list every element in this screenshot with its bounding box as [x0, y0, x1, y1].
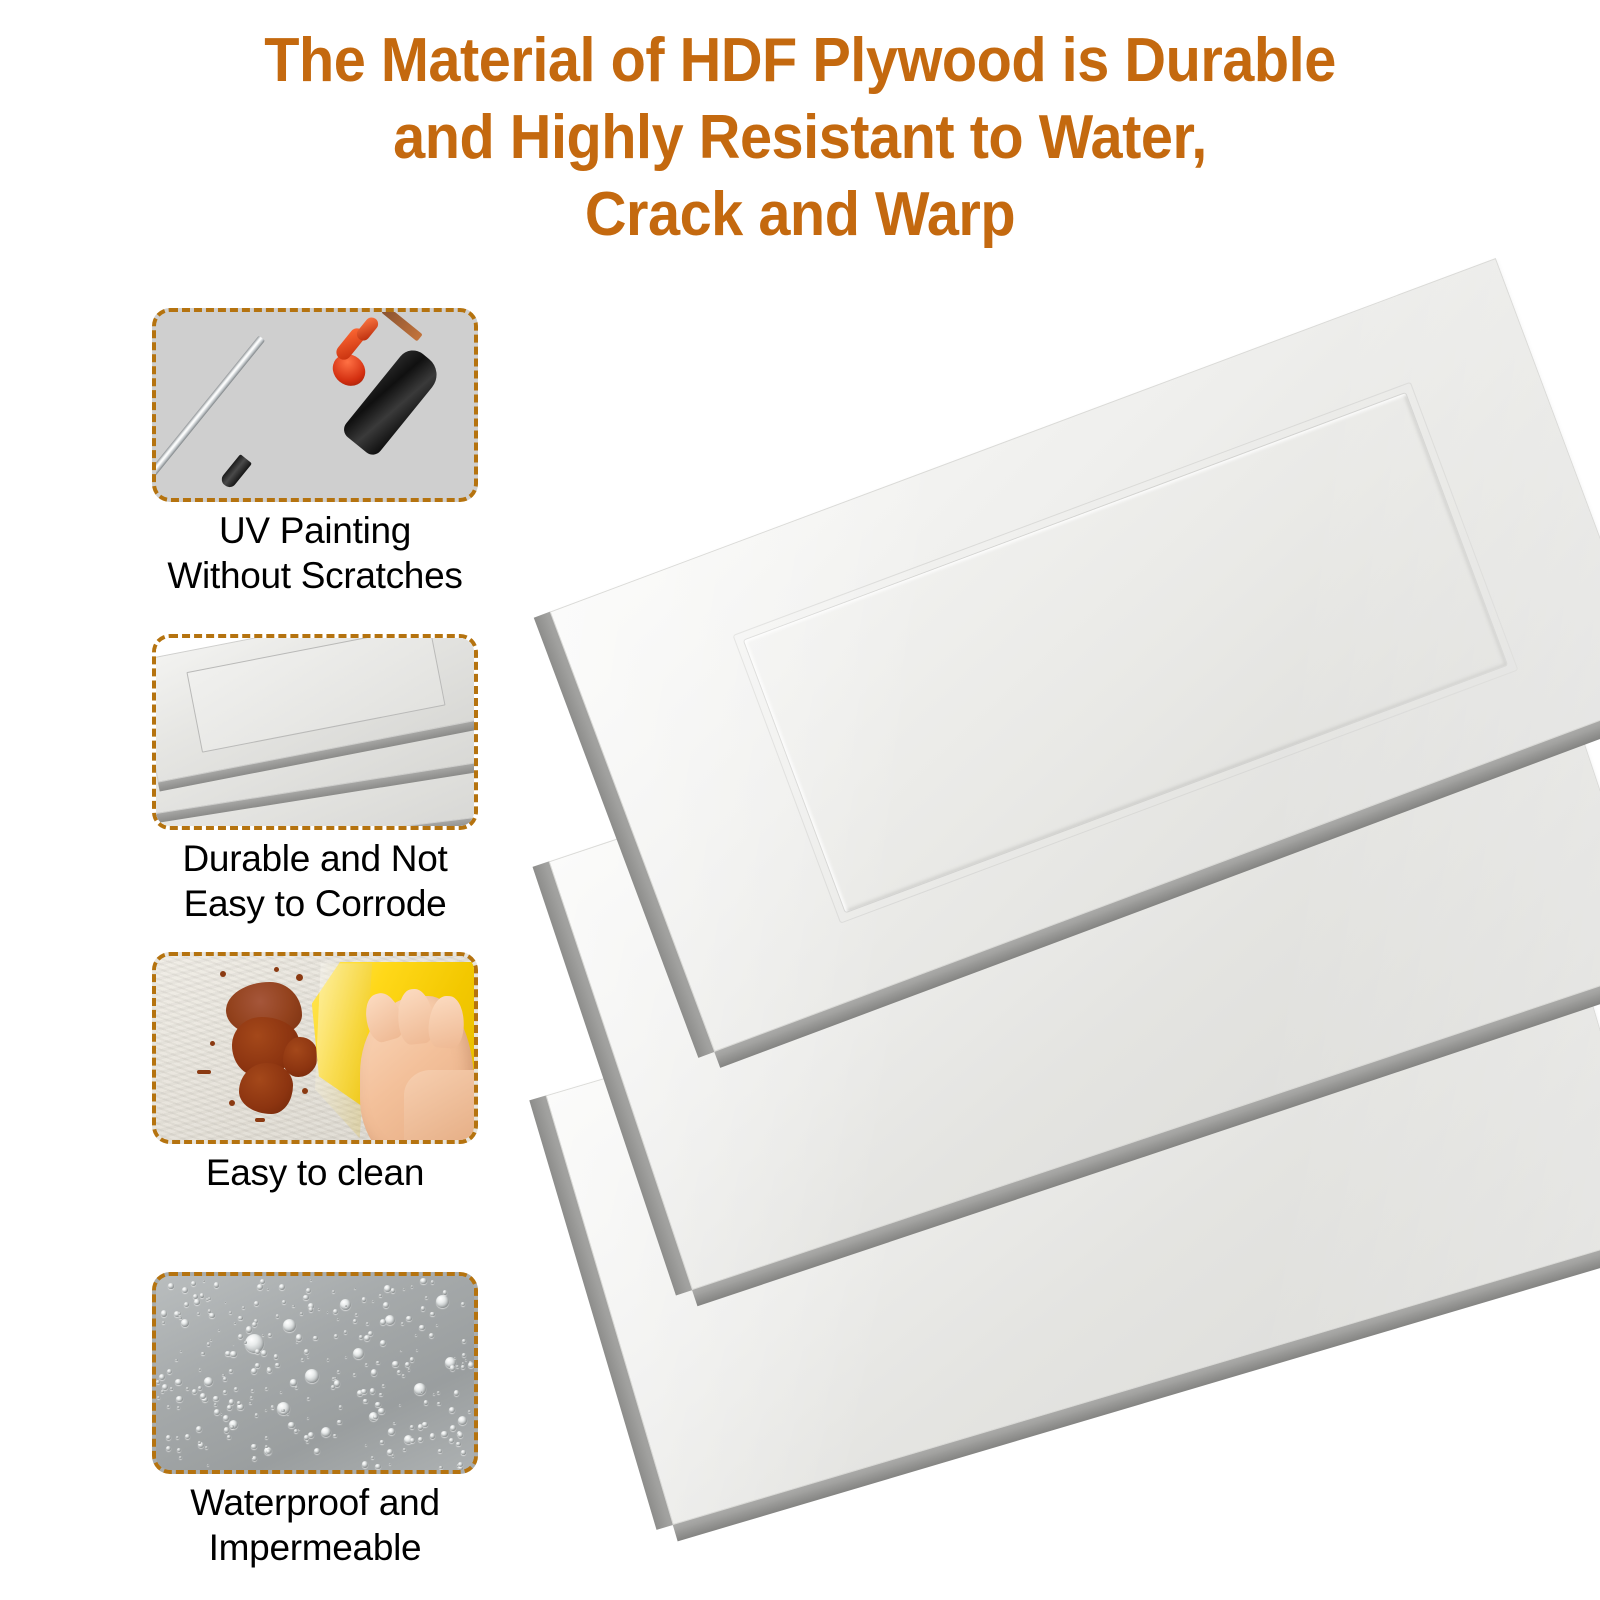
screwdriver-phillips-tip: [219, 454, 252, 490]
water-droplet: [379, 1393, 383, 1397]
water-droplet: [419, 1325, 425, 1331]
water-droplet: [177, 1448, 182, 1453]
water-droplet: [272, 1407, 275, 1410]
water-droplet: [421, 1306, 426, 1311]
water-droplet: [221, 1413, 223, 1415]
water-droplet: [207, 1342, 211, 1346]
water-droplet: [393, 1422, 395, 1424]
water-droplet: [308, 1432, 314, 1438]
water-droplet: [461, 1450, 465, 1454]
water-droplet: [418, 1437, 423, 1442]
water-droplet: [179, 1317, 181, 1319]
water-droplet: [433, 1393, 435, 1395]
water-droplet: [441, 1431, 448, 1438]
water-droplet: [185, 1434, 190, 1439]
feature-caption: UV Painting Without Scratches: [152, 508, 478, 598]
water-droplet: [429, 1333, 434, 1338]
water-droplet: [345, 1356, 347, 1358]
water-droplet: [353, 1348, 364, 1359]
water-droplet: [403, 1288, 405, 1290]
water-droplet: [327, 1311, 329, 1313]
water-droplet: [290, 1379, 296, 1385]
caption-line-1: Easy to clean: [152, 1150, 478, 1195]
water-droplet: [306, 1440, 309, 1443]
water-droplet: [371, 1369, 378, 1376]
water-droplet: [424, 1400, 428, 1404]
water-droplet: [309, 1307, 314, 1312]
water-droplet: [159, 1374, 165, 1380]
water-droplet: [223, 1415, 229, 1421]
water-droplet: [250, 1396, 253, 1399]
water-droplet: [370, 1388, 376, 1394]
water-droplet: [420, 1278, 426, 1284]
water-droplet: [234, 1387, 238, 1391]
water-droplet: [200, 1293, 204, 1297]
feature-caption: Durable and Not Easy to Corrode: [152, 836, 478, 926]
water-droplet: [209, 1313, 215, 1319]
water-droplet: [353, 1373, 356, 1376]
stain-blob: [239, 1063, 293, 1115]
water-droplet: [288, 1422, 295, 1429]
water-droplet: [383, 1302, 389, 1308]
water-droplet: [411, 1285, 413, 1287]
water-droplet: [180, 1350, 182, 1352]
water-droplet: [242, 1306, 245, 1309]
stain-blob: [283, 1037, 318, 1077]
feature-image-frame: [152, 952, 478, 1144]
water-droplet: [450, 1365, 456, 1371]
water-droplet: [178, 1312, 181, 1315]
water-droplet: [191, 1281, 196, 1286]
water-droplet: [458, 1416, 467, 1425]
water-droplet: [156, 1380, 160, 1384]
stain-fleck: [255, 1118, 265, 1122]
water-droplet: [461, 1365, 465, 1369]
water-droplet: [307, 1356, 309, 1358]
water-droplet: [280, 1391, 282, 1393]
stain-fleck: [274, 967, 279, 972]
caption-line-2: Without Scratches: [152, 553, 478, 598]
water-droplet: [314, 1448, 320, 1454]
water-droplet: [410, 1425, 414, 1429]
water-droplet: [282, 1300, 286, 1304]
water-droplet: [461, 1302, 465, 1306]
water-droplet: [166, 1435, 171, 1440]
screwdriver-grip-lower: [354, 315, 380, 343]
water-droplet: [415, 1334, 417, 1336]
water-droplet: [238, 1316, 242, 1320]
water-droplet: [275, 1363, 280, 1368]
water-droplet: [255, 1349, 260, 1354]
water-droplet: [368, 1331, 373, 1336]
water-droplet: [365, 1444, 367, 1446]
water-droplet: [337, 1420, 341, 1424]
water-droplet: [267, 1288, 269, 1290]
stain-fleck: [210, 1041, 215, 1046]
water-droplet: [327, 1358, 330, 1361]
water-droplet: [251, 1444, 257, 1450]
water-droplet: [186, 1387, 189, 1390]
water-droplet: [384, 1285, 391, 1292]
water-droplet: [333, 1434, 337, 1438]
water-droplet: [246, 1326, 252, 1332]
water-droplet: [456, 1442, 460, 1446]
water-droplet: [197, 1312, 200, 1315]
water-droplet: [372, 1300, 374, 1302]
feature-card-uv-painting: UV Painting Without Scratches: [152, 308, 478, 598]
screwdriver-shaft: [152, 336, 265, 493]
water-droplet: [184, 1302, 190, 1308]
water-droplet: [175, 1359, 177, 1361]
water-droplet: [268, 1333, 272, 1337]
feature-image-frame: [152, 1272, 478, 1474]
water-droplet: [192, 1389, 197, 1394]
water-droplet: [161, 1390, 164, 1393]
water-droplet: [205, 1446, 208, 1449]
stain-fleck: [229, 1100, 235, 1106]
water-droplet: [468, 1362, 474, 1368]
water-droplet: [437, 1402, 441, 1406]
water-droplet: [456, 1365, 459, 1368]
water-droplet: [331, 1385, 335, 1389]
water-droplet: [376, 1361, 380, 1365]
water-droplet: [403, 1448, 406, 1451]
water-droplet: [363, 1399, 368, 1404]
water-droplet: [265, 1387, 268, 1390]
water-droplet: [249, 1402, 252, 1405]
feature-card-easy-to-clean: Easy to clean: [152, 952, 478, 1195]
water-droplet: [265, 1436, 268, 1439]
water-droplet: [362, 1297, 366, 1301]
water-droplet: [227, 1435, 231, 1439]
water-droplet: [198, 1386, 202, 1390]
water-droplet: [298, 1429, 300, 1431]
water-droplet: [454, 1390, 459, 1395]
water-droplet: [194, 1299, 200, 1305]
water-droplet: [296, 1341, 298, 1343]
water-droplet: [254, 1301, 259, 1306]
water-droplet: [199, 1368, 201, 1370]
water-droplet: [274, 1354, 278, 1358]
water-droplet: [362, 1461, 368, 1467]
water-droplet: [223, 1390, 227, 1394]
water-droplet: [365, 1363, 369, 1367]
water-droplet: [391, 1288, 395, 1292]
water-droplet: [400, 1350, 402, 1352]
water-droplet: [373, 1415, 378, 1420]
water-droplet: [430, 1312, 435, 1317]
water-droplet: [257, 1284, 263, 1290]
water-droplet: [255, 1413, 258, 1416]
water-droplet: [414, 1383, 426, 1395]
water-droplet: [334, 1377, 336, 1379]
water-droplet: [210, 1339, 212, 1341]
water-droplet: [337, 1318, 339, 1320]
water-droplet: [462, 1353, 466, 1357]
water-droplet: [196, 1426, 202, 1432]
water-droplet: [355, 1313, 358, 1316]
water-droplet: [353, 1319, 357, 1323]
caption-line-1: Durable and Not: [152, 836, 478, 881]
water-droplet: [229, 1399, 235, 1405]
water-droplet: [168, 1283, 174, 1289]
water-droplet: [406, 1316, 411, 1321]
water-droplet: [218, 1329, 220, 1331]
water-droplet: [375, 1402, 381, 1408]
feature-card-waterproof: Waterproof and Impermeable: [152, 1272, 478, 1570]
water-droplet: [279, 1284, 285, 1290]
water-droplet: [405, 1362, 410, 1367]
water-droplet: [167, 1369, 172, 1374]
water-droplet: [380, 1319, 386, 1325]
water-droplet: [439, 1466, 443, 1470]
water-droplet: [261, 1350, 267, 1356]
title-line-2: and Highly Resistant to Water,: [56, 99, 1544, 176]
water-droplet: [402, 1374, 405, 1377]
water-droplet: [310, 1279, 313, 1282]
wrist: [404, 1070, 474, 1140]
water-droplet: [201, 1352, 205, 1356]
water-droplet: [222, 1374, 225, 1377]
water-droplet: [208, 1297, 211, 1300]
water-droplet: [251, 1389, 254, 1392]
water-droplet: [379, 1294, 381, 1296]
water-droplet: [307, 1397, 310, 1400]
water-droplet: [385, 1315, 395, 1325]
water-droplet: [292, 1305, 294, 1307]
water-droplet: [157, 1396, 160, 1399]
title-line-3: Crack and Warp: [56, 176, 1544, 253]
water-droplet: [223, 1377, 227, 1381]
water-droplet: [378, 1408, 385, 1415]
water-droplet: [380, 1440, 383, 1443]
water-droplet: [422, 1422, 428, 1428]
infographic-page: The Material of HDF Plywood is Durable a…: [0, 0, 1600, 1600]
water-droplet: [255, 1363, 260, 1368]
stain-fleck: [302, 1088, 308, 1094]
water-droplet: [181, 1319, 189, 1327]
water-droplet: [450, 1425, 456, 1431]
water-droplet: [301, 1358, 304, 1361]
water-droplet: [175, 1379, 181, 1385]
water-droplet: [332, 1290, 335, 1293]
water-droplet: [227, 1405, 232, 1410]
water-droplet: [170, 1387, 173, 1390]
water-droplet: [214, 1409, 220, 1415]
water-droplet: [408, 1368, 411, 1371]
water-droplet: [166, 1446, 171, 1451]
feature-card-durable: Durable and Not Easy to Corrode: [152, 634, 478, 926]
water-droplet: [179, 1456, 182, 1459]
water-droplet: [410, 1357, 415, 1362]
water-droplet: [233, 1344, 235, 1346]
water-droplet: [303, 1295, 308, 1300]
water-droplet: [375, 1464, 381, 1470]
water-droplet: [162, 1321, 165, 1324]
water-droplet: [225, 1301, 227, 1303]
water-droplet: [176, 1396, 182, 1402]
water-droplet: [366, 1322, 369, 1325]
caption-line-2: Impermeable: [152, 1525, 478, 1570]
water-droplet: [465, 1359, 467, 1361]
cleaning-photo: [156, 956, 474, 1140]
water-droplet: [214, 1282, 220, 1288]
water-droplet: [306, 1288, 311, 1293]
water-droplet: [410, 1438, 415, 1443]
caption-line-1: Waterproof and: [152, 1480, 478, 1525]
water-droplet: [354, 1288, 356, 1290]
water-droplet: [443, 1290, 447, 1294]
screwdriver-icon: [156, 312, 474, 498]
water-droplet: [251, 1368, 257, 1374]
water-droplet: [267, 1368, 272, 1373]
water-droplet: [344, 1330, 348, 1334]
stain-fleck: [220, 971, 226, 977]
water-droplet: [176, 1436, 179, 1439]
water-droplet: [399, 1404, 401, 1406]
caption-line-2: Easy to Corrode: [152, 881, 478, 926]
water-droplet: [177, 1406, 180, 1409]
water-droplet: [224, 1427, 230, 1433]
water-droplet: [333, 1309, 338, 1314]
water-droplet: [214, 1403, 217, 1406]
feature-image-frame: [152, 634, 478, 830]
water-droplets-photo: [156, 1276, 474, 1470]
water-droplet: [304, 1349, 309, 1354]
water-droplet: [449, 1438, 455, 1444]
water-droplet: [430, 1433, 436, 1439]
water-droplet: [203, 1280, 205, 1282]
panel-stack-thumbnail: [156, 638, 474, 826]
water-droplet: [207, 1464, 209, 1466]
water-droplet: [182, 1287, 188, 1293]
water-droplet: [230, 1351, 237, 1358]
water-droplet: [388, 1428, 395, 1435]
water-droplet: [281, 1409, 284, 1412]
water-droplet: [307, 1417, 310, 1420]
water-droplet: [287, 1413, 289, 1415]
water-droplet: [266, 1449, 271, 1454]
hero-product-image: [600, 420, 1600, 1540]
water-droplet: [162, 1384, 168, 1390]
water-droplet: [305, 1369, 319, 1383]
water-droplet: [318, 1308, 320, 1310]
water-droplet: [229, 1369, 233, 1373]
water-droplet: [425, 1296, 428, 1299]
water-droplet: [237, 1404, 243, 1410]
water-droplet: [389, 1463, 391, 1465]
water-droplet: [238, 1334, 243, 1339]
feature-caption: Waterproof and Impermeable: [152, 1480, 478, 1570]
caption-line-1: UV Painting: [152, 508, 478, 553]
water-droplet: [252, 1322, 257, 1327]
water-droplet: [392, 1454, 395, 1457]
water-droplet: [213, 1396, 218, 1401]
water-droplet: [359, 1335, 363, 1339]
water-droplet: [458, 1432, 464, 1438]
water-droplet: [454, 1357, 456, 1359]
stain-fleck: [197, 1070, 211, 1074]
water-droplet: [283, 1319, 296, 1332]
water-droplet: [462, 1339, 466, 1343]
feature-caption: Easy to clean: [152, 1150, 478, 1195]
title-line-1: The Material of HDF Plywood is Durable: [56, 22, 1544, 99]
water-droplet: [339, 1405, 342, 1408]
water-droplet: [371, 1456, 374, 1459]
water-droplet: [397, 1370, 401, 1374]
water-droplet: [262, 1334, 264, 1336]
water-droplet: [167, 1405, 170, 1408]
water-droplet: [161, 1310, 167, 1316]
water-droplet: [382, 1384, 385, 1387]
water-droplet: [337, 1370, 340, 1373]
water-droplet: [431, 1280, 435, 1284]
water-droplet: [200, 1393, 206, 1399]
water-droplet: [296, 1334, 302, 1340]
water-droplet: [313, 1336, 318, 1341]
water-droplet: [198, 1441, 201, 1444]
water-droplet: [321, 1427, 331, 1437]
water-droplet: [334, 1334, 338, 1338]
water-droplet: [276, 1314, 279, 1317]
water-droplet: [380, 1340, 386, 1346]
water-droplet: [392, 1361, 398, 1367]
water-droplet: [438, 1449, 442, 1453]
page-title: The Material of HDF Plywood is Durable a…: [56, 22, 1544, 253]
water-droplet: [229, 1311, 232, 1314]
feature-image-frame: [152, 308, 478, 502]
water-droplet: [449, 1407, 455, 1413]
water-droplet: [265, 1409, 267, 1411]
water-droplet: [436, 1324, 438, 1326]
water-droplet: [204, 1377, 213, 1386]
water-droplet: [468, 1410, 471, 1413]
water-droplet: [436, 1295, 449, 1308]
water-droplet: [300, 1312, 303, 1315]
stain-fleck: [296, 974, 303, 981]
water-droplet: [437, 1391, 440, 1394]
screwdriver-brand-mark: [381, 308, 422, 342]
water-droplet: [295, 1386, 298, 1389]
water-droplet: [401, 1322, 404, 1325]
water-droplet: [361, 1389, 367, 1395]
water-droplet: [416, 1349, 419, 1352]
water-droplet: [234, 1322, 236, 1324]
